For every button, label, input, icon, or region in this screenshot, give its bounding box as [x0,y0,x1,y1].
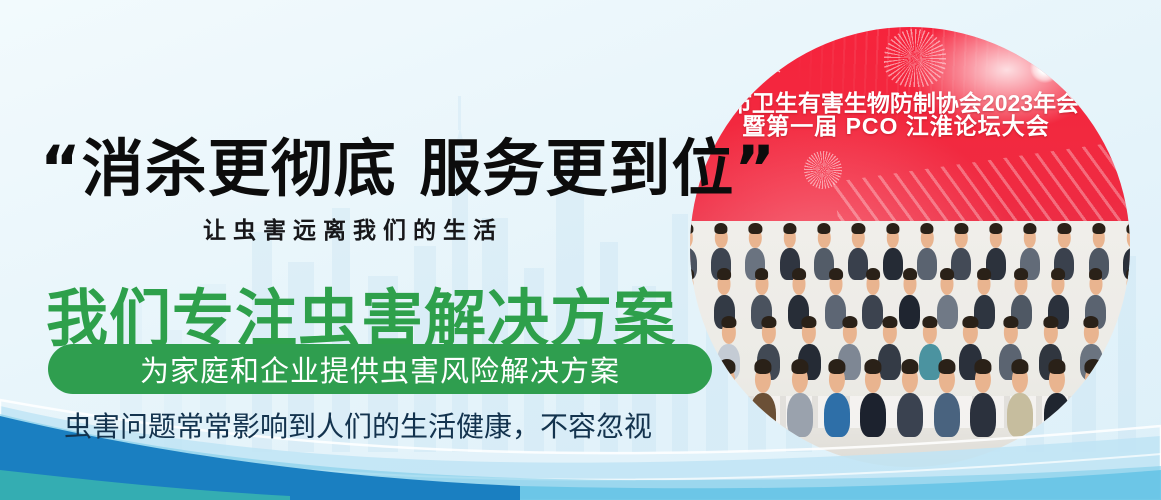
promo-banner: 防制协会 市卫生有害生物防制协会2023年会 暨第一届 PCO 江淮论坛大会 [0,0,1161,500]
banner-subheadline: 让虫害远离我们的生活 [203,211,503,245]
banner-footer-text: 虫害问题常常影响到人们的生活健康，不容忽视 [64,405,652,445]
stage-emblem-icon [884,29,946,87]
crowd-row-middle-upper [690,295,1130,329]
banner-tagline-text: 为家庭和企业提供虫害风险解决方案 [140,348,620,390]
banner-headline: “消杀更彻底 服务更到位” [40,118,776,208]
stage-emblem-secondary-icon [804,151,842,189]
stage-spotlight-icon [1030,53,1060,83]
banner-tagline-pill: 为家庭和企业提供虫害风险解决方案 [48,344,712,394]
stage-small-text: 防制协会 [734,59,783,77]
